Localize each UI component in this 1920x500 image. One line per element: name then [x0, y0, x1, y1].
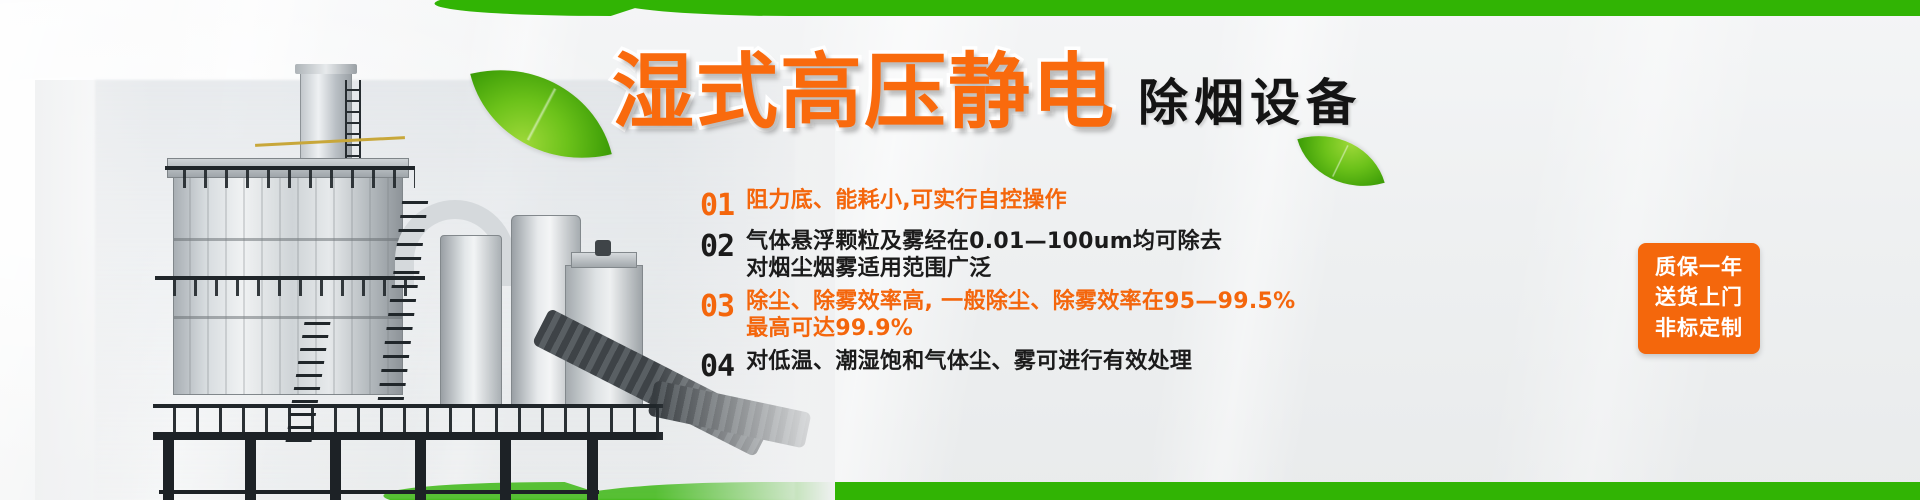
feature-item-04: 04 对低温、潮湿饱和气体尘、雾可进行有效处理	[700, 349, 1300, 384]
headline-title: 湿式高压静电	[612, 52, 1116, 134]
promo-line-delivery: 送货上门	[1638, 282, 1760, 312]
feature-text: 阻力底、能耗小,可实行自控操作	[746, 188, 1067, 215]
headline-group: 湿式高压静电 除烟设备	[612, 52, 1362, 134]
feature-list: 01 阻力底、能耗小,可实行自控操作 02 气体悬浮颗粒及雾经在0.01—100…	[700, 188, 1300, 390]
promo-line-custom: 非标定制	[1638, 313, 1760, 343]
feature-item-03: 03 除尘、除雾效率高, 一般除尘、除雾效率在95—99.5% 最高可达99.9…	[700, 289, 1300, 343]
green-ribbon-top	[610, 0, 1920, 16]
feature-number: 03	[700, 289, 734, 324]
feature-text: 对低温、潮湿饱和气体尘、雾可进行有效处理	[746, 349, 1192, 376]
promo-banner: 湿式高压静电 除烟设备 01 阻力底、能耗小,可实行自控操作 02 气体悬浮颗粒…	[0, 0, 1920, 500]
factory-equipment-photo	[95, 80, 795, 500]
feature-text: 除尘、除雾效率高, 一般除尘、除雾效率在95—99.5% 最高可达99.9%	[746, 289, 1295, 343]
promo-badge[interactable]: 质保一年 送货上门 非标定制	[1638, 243, 1760, 354]
feature-text: 气体悬浮颗粒及雾经在0.01—100um均可除去 对烟尘烟雾适用范围广泛	[746, 229, 1222, 283]
feature-number: 04	[700, 349, 734, 384]
feature-number: 01	[700, 188, 734, 223]
feature-item-02: 02 气体悬浮颗粒及雾经在0.01—100um均可除去 对烟尘烟雾适用范围广泛	[700, 229, 1300, 283]
feature-item-01: 01 阻力底、能耗小,可实行自控操作	[700, 188, 1300, 223]
promo-line-warranty: 质保一年	[1638, 252, 1760, 282]
headline-subtitle: 除烟设备	[1138, 78, 1362, 128]
feature-number: 02	[700, 229, 734, 264]
